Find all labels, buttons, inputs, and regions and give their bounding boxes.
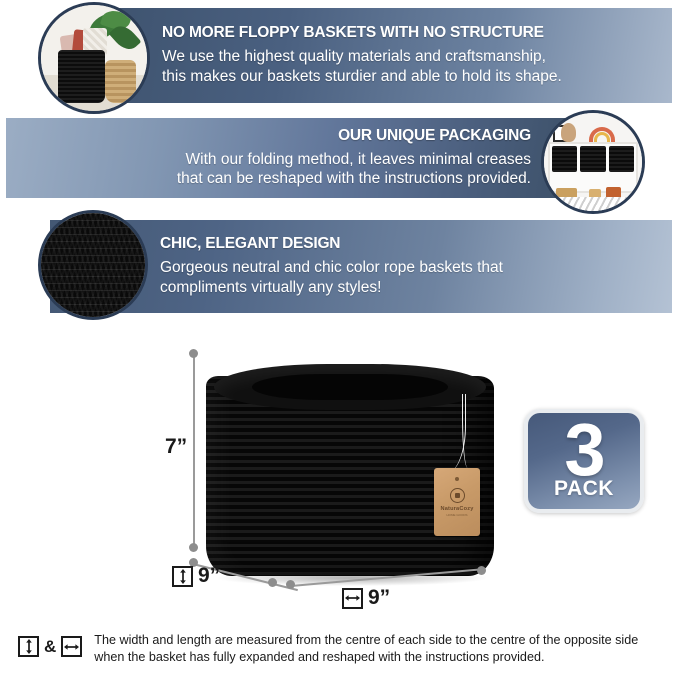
banner-text-block: OUR UNIQUE PACKAGING With our folding me… (6, 127, 567, 189)
brand-hang-tag: NaturaCozy HOME GOODS (434, 468, 480, 536)
feature-body-line1: Gorgeous neutral and chic color rope bas… (160, 258, 658, 278)
height-dimension-label: 7” (165, 435, 187, 459)
dimension-endpoint-dot (477, 566, 486, 575)
feature-body-line1: We use the highest quality materials and… (162, 47, 658, 67)
hang-tag-string (462, 394, 470, 468)
dimension-endpoint-dot (286, 580, 295, 589)
height-dimension-line (193, 354, 195, 548)
pack-count-badge: 3 PACK (524, 409, 644, 513)
teddy-bear-toy (561, 123, 577, 143)
horizontal-arrow-icon (61, 636, 82, 657)
width-value: 9” (368, 586, 390, 609)
dimension-endpoint-dot (268, 578, 277, 587)
note-line1: The width and length are measured from t… (94, 632, 638, 649)
black-rope-storage-basket-photo: NaturaCozy HOME GOODS (200, 358, 500, 586)
basket-opening (252, 374, 448, 400)
feature-body-line1: With our folding method, it leaves minim… (20, 150, 531, 170)
striped-rug (544, 197, 642, 211)
vertical-arrow-icon (18, 636, 39, 657)
feature-body-line2: that can be reshaped with the instructio… (20, 169, 531, 189)
black-rope-basket (58, 50, 105, 103)
rope-texture-photo (38, 210, 148, 320)
depth-value: 9” (198, 564, 220, 587)
width-dimension-label: 9” (342, 586, 390, 610)
note-line2: when the basket has fully expanded and r… (94, 649, 638, 666)
footer-icon-group: & (18, 632, 82, 657)
dimension-endpoint-dot (189, 543, 198, 552)
feature-body: With our folding method, it leaves minim… (20, 150, 531, 190)
ampersand-label: & (44, 637, 56, 657)
measurement-note-text: The width and length are measured from t… (94, 632, 638, 667)
product-infographic: NO MORE FLOPPY BASKETS WITH NO STRUCTURE… (0, 0, 679, 673)
depth-dimension-label: 9” (172, 564, 220, 588)
feature-heading: CHIC, ELEGANT DESIGN (160, 235, 658, 253)
dimension-endpoint-dot (189, 349, 198, 358)
feature-banner-no-floppy-baskets: NO MORE FLOPPY BASKETS WITH NO STRUCTURE… (118, 8, 672, 103)
tag-hole (455, 477, 459, 481)
banner-text-block: NO MORE FLOPPY BASKETS WITH NO STRUCTURE… (118, 24, 672, 86)
circle-monogram-icon (450, 488, 465, 503)
pack-label: PACK (554, 477, 614, 501)
feature-body-line2: this makes our baskets sturdier and able… (162, 67, 658, 87)
tag-brand-name: NaturaCozy (440, 506, 473, 512)
basket-plant-photo (38, 2, 150, 114)
black-storage-bin (552, 146, 577, 171)
pack-count-number: 3 (564, 421, 603, 479)
vertical-arrow-icon (172, 566, 193, 587)
feature-body: We use the highest quality materials and… (162, 47, 658, 87)
horizontal-arrow-icon (342, 588, 363, 609)
tag-tagline: HOME GOODS (446, 513, 467, 517)
cube-shelf-photo (541, 110, 645, 214)
black-storage-bin (580, 146, 605, 171)
black-storage-bin (609, 146, 634, 171)
feature-body: Gorgeous neutral and chic color rope bas… (160, 258, 658, 298)
measurement-note: & The width and length are measured from… (0, 632, 679, 673)
feature-heading: OUR UNIQUE PACKAGING (20, 127, 531, 145)
rainbow-toy-icon (594, 132, 610, 143)
feature-heading: NO MORE FLOPPY BASKETS WITH NO STRUCTURE (162, 24, 658, 42)
rope-weave-texture (41, 213, 145, 317)
feature-body-line2: compliments virtually any styles! (160, 278, 658, 298)
feature-banner-unique-packaging: OUR UNIQUE PACKAGING With our folding me… (6, 118, 567, 198)
woven-planter (105, 60, 137, 102)
